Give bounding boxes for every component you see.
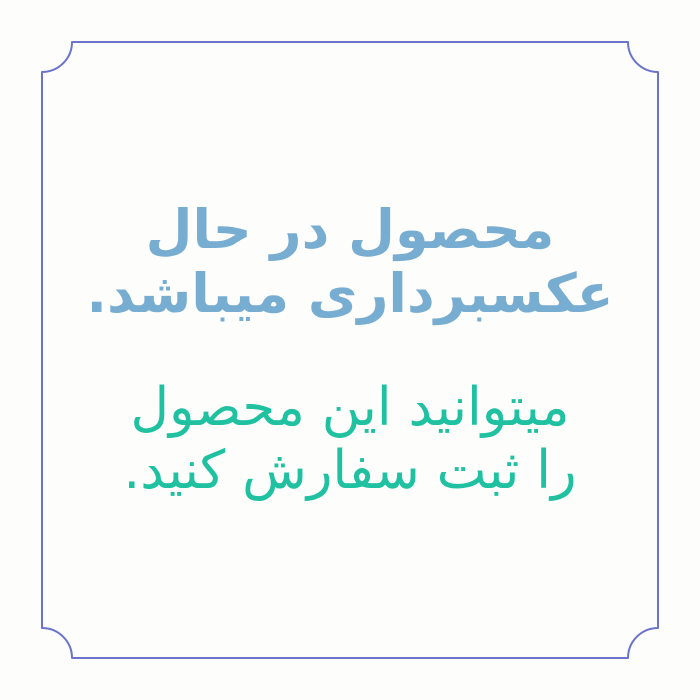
status-message: محصول در حال عکسبرداری میباشد. bbox=[86, 198, 613, 325]
message-stack: محصول در حال عکسبرداری میباشد. میتوانید … bbox=[70, 198, 630, 503]
order-message: میتوانید این محصول را ثبت سفارش کنید. bbox=[123, 377, 576, 502]
product-placeholder-card: محصول در حال عکسبرداری میباشد. میتوانید … bbox=[0, 0, 700, 700]
